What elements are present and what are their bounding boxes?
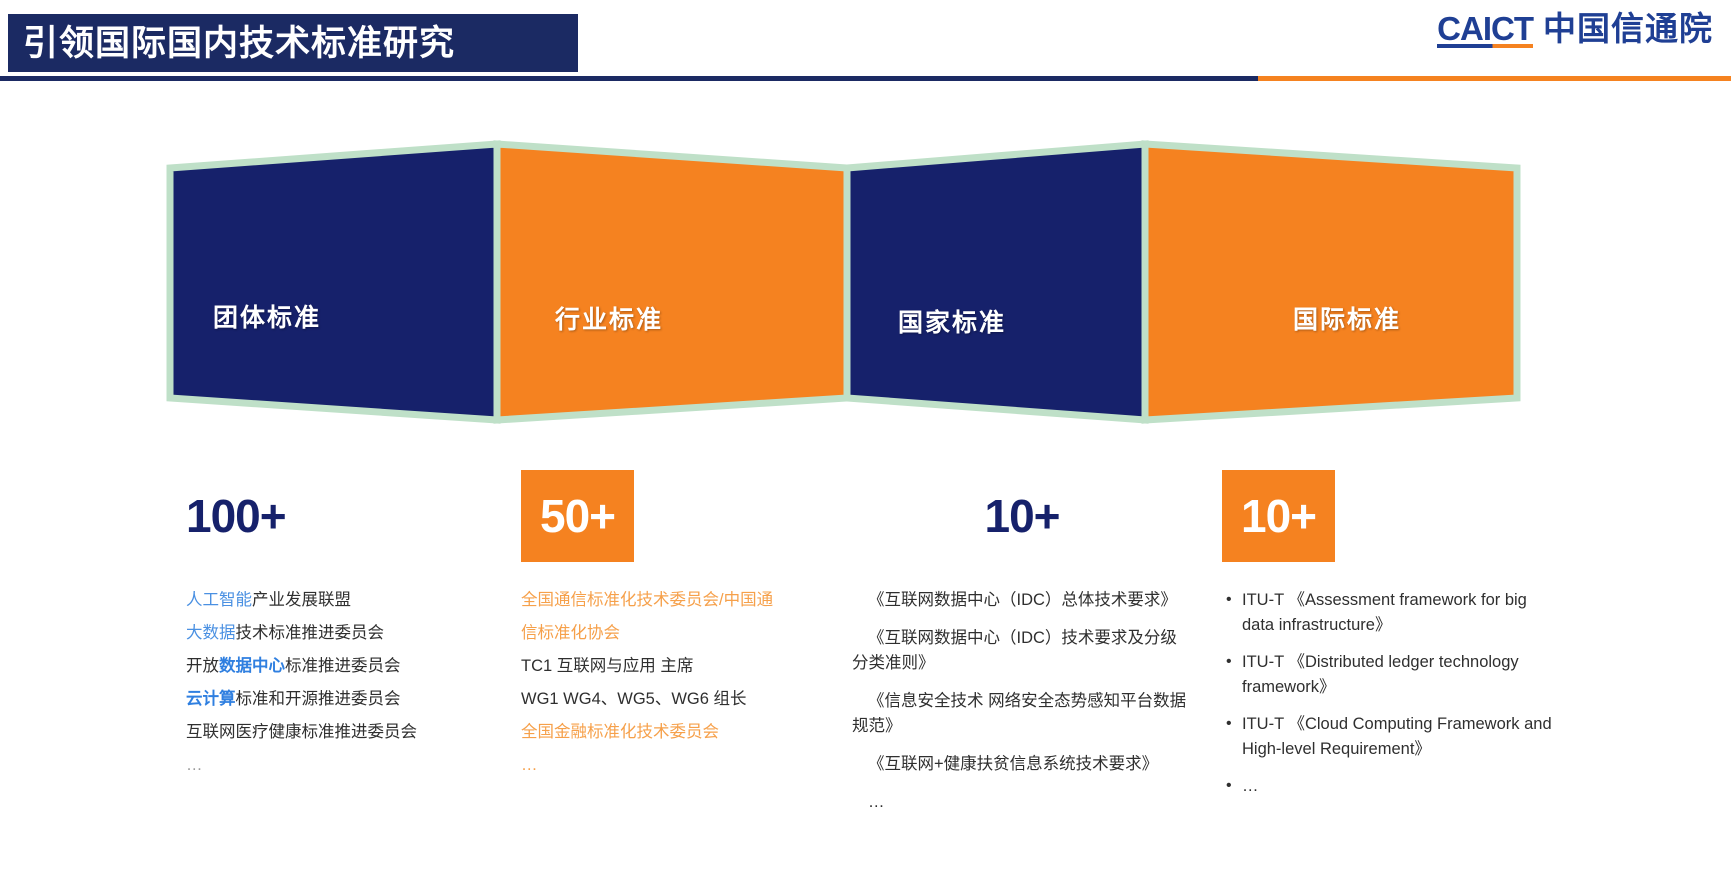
list-item: …	[521, 749, 821, 782]
caict-logo: CAICT 中国信通院	[1437, 10, 1713, 58]
page-title: 引领国际国内技术标准研究	[8, 26, 455, 61]
count-badge-50: 50+	[521, 470, 634, 562]
text-run: 全国通信标准化技术委员会/中国通	[521, 591, 773, 609]
logo-acronym-text: CAICT	[1437, 10, 1533, 48]
group-standards-list: 人工智能产业发展联盟大数据技术标准推进委员会开放数据中心标准推进委员会云计算标准…	[186, 584, 486, 782]
document-item: 《互联网+健康扶贫信息系统技术要求》	[852, 752, 1192, 777]
text-run: 开放	[186, 657, 219, 675]
count-badge-10-international: 10+	[1222, 470, 1335, 562]
list-item: 人工智能产业发展联盟	[186, 584, 486, 617]
bullet-item: ITU-T 《Cloud Computing Framework and Hig…	[1222, 712, 1562, 762]
list-item: 全国通信标准化技术委员会/中国通	[521, 584, 821, 617]
text-run: TC1 互联网与应用 主席	[521, 657, 693, 675]
bullet-item: …	[1222, 774, 1562, 799]
logo-chinese-text: 中国信通院	[1543, 10, 1713, 48]
document-item: 《互联网数据中心（IDC）总体技术要求》	[852, 588, 1192, 613]
chevron-label-4: 国际标准	[1293, 300, 1401, 336]
rule-segment-navy	[0, 76, 1258, 81]
count-badge-100: 100+	[186, 470, 486, 562]
list-item: 开放数据中心标准推进委员会	[186, 650, 486, 683]
text-run: 标准推进委员会	[285, 657, 401, 675]
list-item: 大数据技术标准推进委员会	[186, 617, 486, 650]
list-item: WG1 WG4、WG5、WG6 组长	[521, 683, 821, 716]
text-run: 产业发展联盟	[252, 591, 351, 609]
chevron-panel-2	[497, 144, 847, 420]
list-item: TC1 互联网与应用 主席	[521, 650, 821, 683]
title-plate: 引领国际国内技术标准研究	[8, 14, 578, 72]
standards-chevron-banner: 团体标准 行业标准 国家标准 国际标准	[0, 128, 1731, 448]
text-run: …	[186, 756, 203, 774]
list-item: 全国金融标准化技术委员会	[521, 716, 821, 749]
text-run: 全国金融标准化技术委员会	[521, 723, 719, 741]
text-run: 标准和开源推进委员会	[236, 690, 401, 708]
text-run: 信标准化协会	[521, 624, 620, 642]
document-list-ellipsis: …	[852, 790, 1192, 815]
text-run: 大数据	[186, 624, 236, 642]
count-badge-10-national: 10+	[852, 470, 1192, 562]
text-run: WG1 WG4、WG5、WG6 组长	[521, 690, 747, 708]
industry-standards-list: 全国通信标准化技术委员会/中国通信标准化协会TC1 互联网与应用 主席WG1 W…	[521, 584, 821, 782]
chevron-label-3: 国家标准	[898, 303, 1006, 339]
text-run: 人工智能	[186, 591, 252, 609]
text-run: 云计算	[186, 690, 236, 708]
count-badge-50-text: 50+	[540, 493, 615, 539]
count-badge-10-international-text: 10+	[1241, 493, 1316, 539]
bullet-item: ITU-T 《Assessment framework for big data…	[1222, 588, 1562, 638]
chevron-label-1: 团体标准	[213, 298, 321, 334]
text-run: …	[521, 756, 538, 774]
column-group-standards: 100+ 人工智能产业发展联盟大数据技术标准推进委员会开放数据中心标准推进委员会…	[186, 470, 486, 782]
slide-header: 引领国际国内技术标准研究 CAICT 中国信通院	[0, 0, 1731, 84]
column-international-standards: 10+ ITU-T 《Assessment framework for big …	[1222, 470, 1562, 811]
document-item: 《互联网数据中心（IDC）技术要求及分级分类准则》	[852, 626, 1192, 676]
column-industry-standards: 50+ 全国通信标准化技术委员会/中国通信标准化协会TC1 互联网与应用 主席W…	[521, 470, 821, 782]
text-run: 数据中心	[219, 657, 285, 675]
chevron-label-2: 行业标准	[555, 300, 663, 336]
bullet-item: ITU-T 《Distributed ledger technology fra…	[1222, 650, 1562, 700]
international-standards-bulletlist: ITU-T 《Assessment framework for big data…	[1222, 588, 1562, 799]
national-standards-doclist: 《互联网数据中心（IDC）总体技术要求》《互联网数据中心（IDC）技术要求及分级…	[852, 588, 1192, 815]
chevron-panel-4	[1145, 144, 1517, 420]
list-item: 互联网医疗健康标准推进委员会	[186, 716, 486, 749]
rule-segment-orange	[1258, 76, 1731, 81]
chevron-panel-1	[170, 144, 497, 420]
text-run: 技术标准推进委员会	[236, 624, 385, 642]
document-item: 《信息安全技术 网络安全态势感知平台数据规范》	[852, 689, 1192, 739]
column-national-standards: 10+ 《互联网数据中心（IDC）总体技术要求》《互联网数据中心（IDC）技术要…	[852, 470, 1192, 815]
header-divider-rule	[0, 76, 1731, 81]
list-item: …	[186, 749, 486, 782]
list-item: 云计算标准和开源推进委员会	[186, 683, 486, 716]
standards-columns: 100+ 人工智能产业发展联盟大数据技术标准推进委员会开放数据中心标准推进委员会…	[0, 470, 1731, 870]
text-run: 互联网医疗健康标准推进委员会	[186, 723, 417, 741]
list-item: 信标准化协会	[521, 617, 821, 650]
chevron-shapes	[0, 128, 1731, 448]
chevron-panel-3	[847, 144, 1145, 420]
